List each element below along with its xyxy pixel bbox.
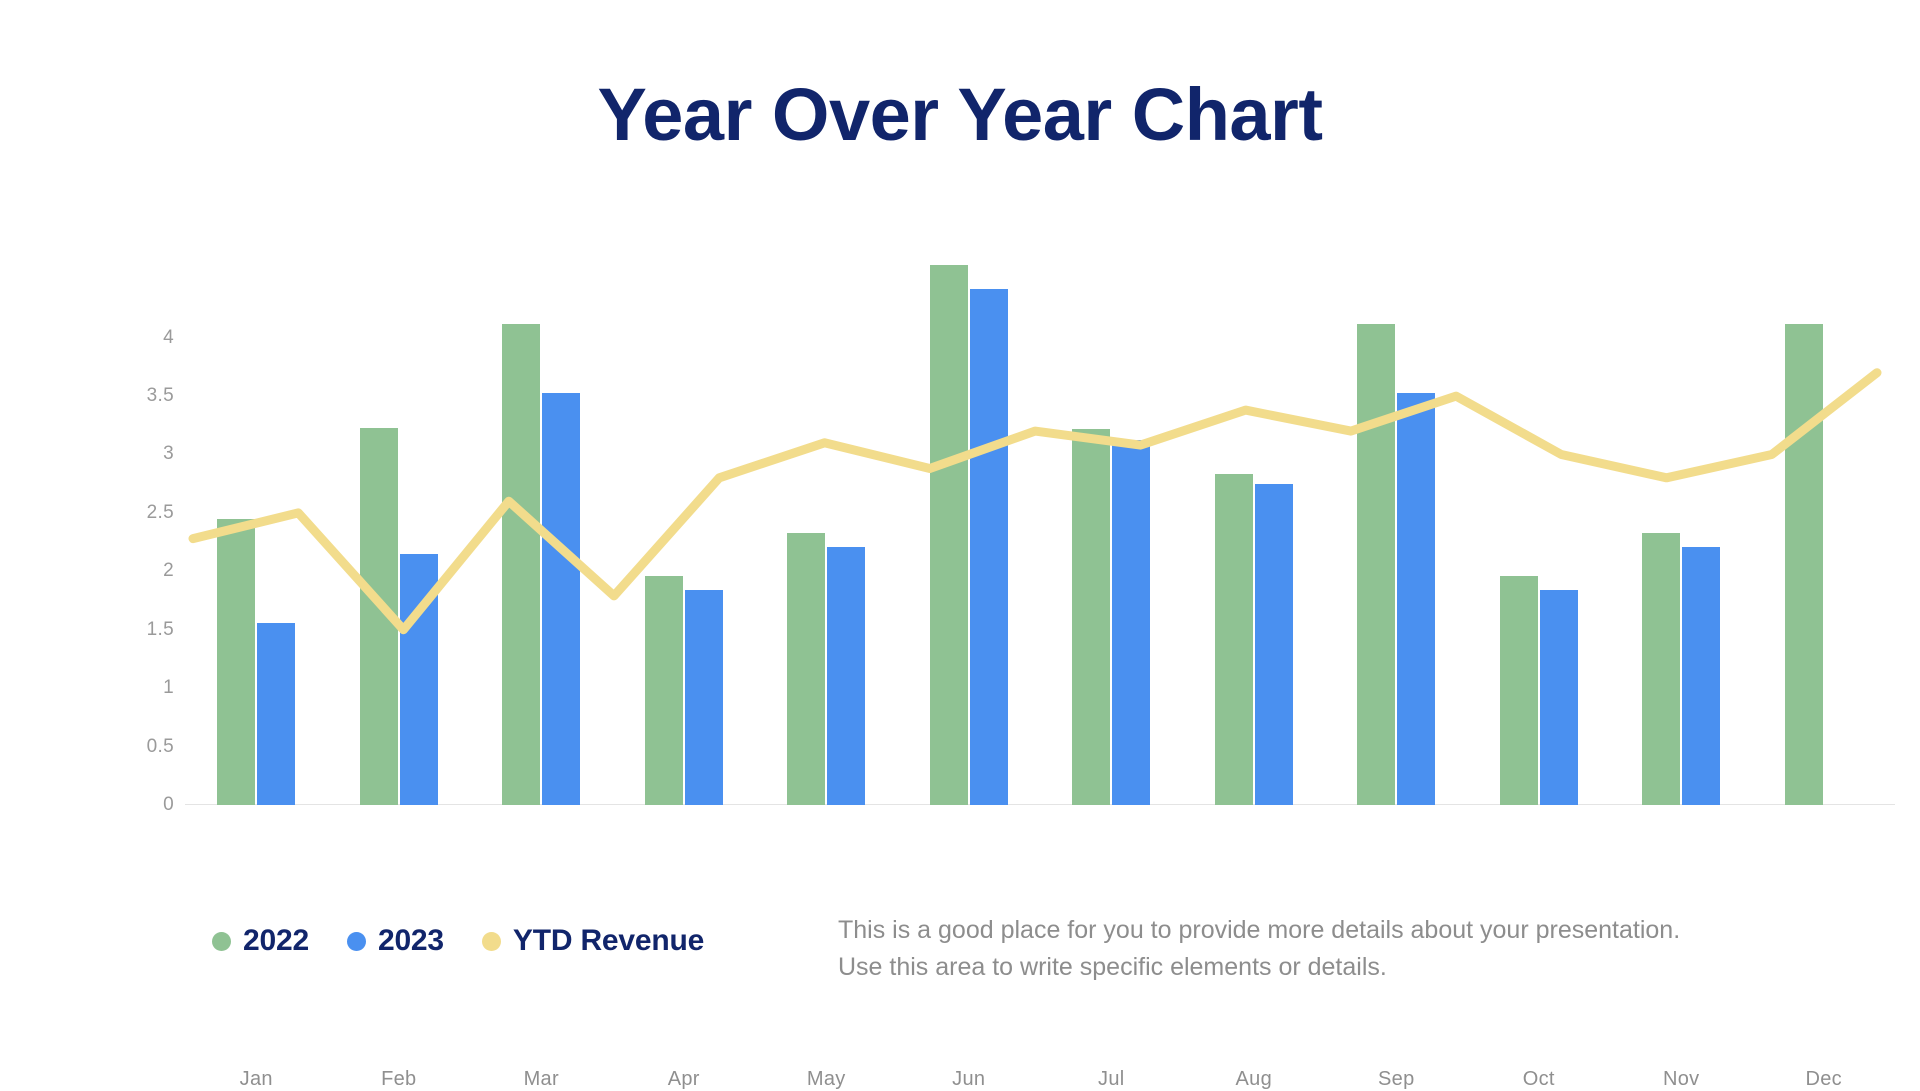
circle-dot-icon [482, 932, 501, 951]
bar-2023[interactable] [1112, 440, 1150, 805]
bar-group [1610, 250, 1753, 805]
bar-group [470, 250, 613, 805]
circle-dot-icon [212, 932, 231, 951]
y-axis-tick: 3.5 [147, 385, 174, 407]
legend-label: 2022 [243, 924, 309, 958]
bar-2023[interactable] [1682, 547, 1720, 805]
bar-2023[interactable] [400, 554, 438, 805]
bar-2022[interactable] [645, 576, 683, 805]
chart-legend: 20222023YTD Revenue [212, 924, 704, 958]
y-axis-tick: 4 [163, 327, 174, 349]
bar-groups [185, 250, 1895, 805]
description-text: This is a good place for you to provide … [838, 912, 1778, 986]
circle-dot-icon [347, 932, 366, 951]
bar-group [1753, 250, 1896, 805]
bar-2023[interactable] [827, 547, 865, 805]
y-axis-tick: 1 [163, 677, 174, 699]
bar-2022[interactable] [930, 265, 968, 805]
y-axis-tick: 2.5 [147, 502, 174, 524]
bar-group [1325, 250, 1468, 805]
bar-group [328, 250, 471, 805]
y-axis-tick: 0 [163, 794, 174, 816]
bar-2023[interactable] [970, 289, 1008, 805]
bar-2022[interactable] [787, 533, 825, 805]
bar-2023[interactable] [542, 393, 580, 805]
bar-group [898, 250, 1041, 805]
bar-2023[interactable] [1255, 484, 1293, 805]
bar-2023[interactable] [1397, 393, 1435, 805]
legend-label: YTD Revenue [513, 924, 704, 958]
bar-2022[interactable] [1215, 474, 1253, 805]
bar-group [185, 250, 328, 805]
legend-item[interactable]: 2023 [347, 924, 444, 958]
plot-area [185, 250, 1895, 805]
slide-root: Year Over Year Chart 00.511.522.533.54 J… [0, 0, 1920, 1080]
legend-item[interactable]: YTD Revenue [482, 924, 704, 958]
bar-2022[interactable] [1072, 429, 1110, 805]
page-title: Year Over Year Chart [0, 78, 1920, 152]
bar-2023[interactable] [257, 623, 295, 805]
bar-group [755, 250, 898, 805]
chart-container: 00.511.522.533.54 JanFebMarAprMayJunJulA… [110, 250, 1810, 810]
bar-2022[interactable] [1785, 324, 1823, 805]
bar-group [613, 250, 756, 805]
y-axis-tick: 0.5 [147, 736, 174, 758]
bar-group [1183, 250, 1326, 805]
bar-2022[interactable] [360, 428, 398, 805]
legend-item[interactable]: 2022 [212, 924, 309, 958]
bar-2022[interactable] [1642, 533, 1680, 805]
bar-2022[interactable] [1500, 576, 1538, 805]
bar-group [1040, 250, 1183, 805]
description-line-2: Use this area to write specific elements… [838, 949, 1778, 986]
bar-2022[interactable] [502, 324, 540, 805]
description-line-1: This is a good place for you to provide … [838, 912, 1778, 949]
bar-2023[interactable] [1540, 590, 1578, 805]
y-axis-tick: 1.5 [147, 619, 174, 641]
bar-2022[interactable] [217, 519, 255, 805]
y-axis: 00.511.522.533.54 [110, 250, 182, 805]
y-axis-tick: 3 [163, 443, 174, 465]
bar-group [1468, 250, 1611, 805]
legend-label: 2023 [378, 924, 444, 958]
bar-2023[interactable] [685, 590, 723, 805]
y-axis-tick: 2 [163, 560, 174, 582]
bar-2022[interactable] [1357, 324, 1395, 805]
